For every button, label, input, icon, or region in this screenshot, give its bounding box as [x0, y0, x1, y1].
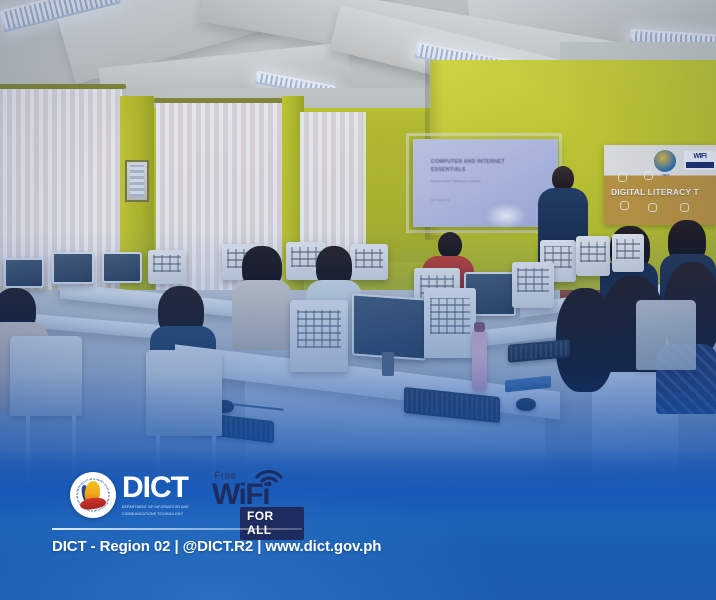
- wall-banner: DICT WIFI DIGITAL LITERACY T: [604, 145, 716, 225]
- wall-poster: [125, 160, 149, 202]
- banner-icon: [620, 201, 629, 210]
- monitor: [4, 258, 44, 288]
- water-bottle: [472, 330, 487, 392]
- banner-seal-label: DICT: [652, 173, 680, 177]
- monitor-back: [424, 288, 476, 358]
- banner-title: DIGITAL LITERACY T: [611, 187, 716, 197]
- mouse: [516, 398, 536, 411]
- monitor: [52, 252, 94, 284]
- brand-divider: [52, 528, 302, 530]
- screenshot-root: COMPUTER AND INTERNET ESSENTIALS Digital…: [0, 0, 716, 600]
- curtain-rod: [0, 84, 126, 89]
- monitor-back: [612, 234, 644, 272]
- dict-logo-lockup: DICT DEPARTMENT OF INFORMATION AND COMMU…: [70, 472, 189, 518]
- monitor-stand: [382, 352, 394, 376]
- dict-subtitle-line1: DEPARTMENT OF INFORMATION AND: [122, 505, 189, 510]
- water-bottle-cap: [474, 322, 485, 332]
- projector-screen: COMPUTER AND INTERNET ESSENTIALS Digital…: [413, 139, 558, 227]
- monitor: [102, 252, 142, 283]
- slide-title: COMPUTER AND INTERNET ESSENTIALS: [431, 159, 535, 174]
- monitor-back: [512, 262, 554, 308]
- monitor: [352, 293, 426, 360]
- banner-icon: [680, 203, 689, 212]
- slide-footer: DICT Region 02: [431, 199, 491, 202]
- wifi-wordmark: WiFi: [212, 480, 269, 510]
- brand-footer-text: DICT - Region 02 | @DICT.R2 | www.dict.g…: [52, 538, 381, 555]
- chair: [636, 300, 696, 370]
- dict-wordmark: DICT: [122, 473, 189, 503]
- monitor-back: [148, 250, 186, 284]
- banner-icon: [648, 203, 657, 212]
- dict-subtitle-line2: COMMUNICATIONS TECHNOLOGY: [122, 512, 189, 517]
- curtain-rod: [154, 98, 288, 103]
- monitor-back: [290, 300, 348, 372]
- dict-seal-icon: [654, 150, 676, 172]
- slide-subtitle: Digital Literacy Training for Learners: [431, 179, 529, 184]
- wifi-forall-badge: FOR ALL: [240, 507, 304, 540]
- monitor-back: [350, 244, 388, 280]
- banner-icon: [618, 173, 627, 182]
- banner-wifi-bar: [686, 162, 714, 168]
- banner-wifi-text: WIFI: [684, 153, 716, 160]
- monitor-back: [576, 236, 610, 276]
- chair: [10, 336, 82, 416]
- screen-glare: [485, 203, 527, 229]
- banner-icon: [644, 171, 653, 180]
- brand-overlay: DICT DEPARTMENT OF INFORMATION AND COMMU…: [0, 450, 716, 600]
- chair: [146, 350, 222, 436]
- dict-seal-icon: [70, 472, 116, 518]
